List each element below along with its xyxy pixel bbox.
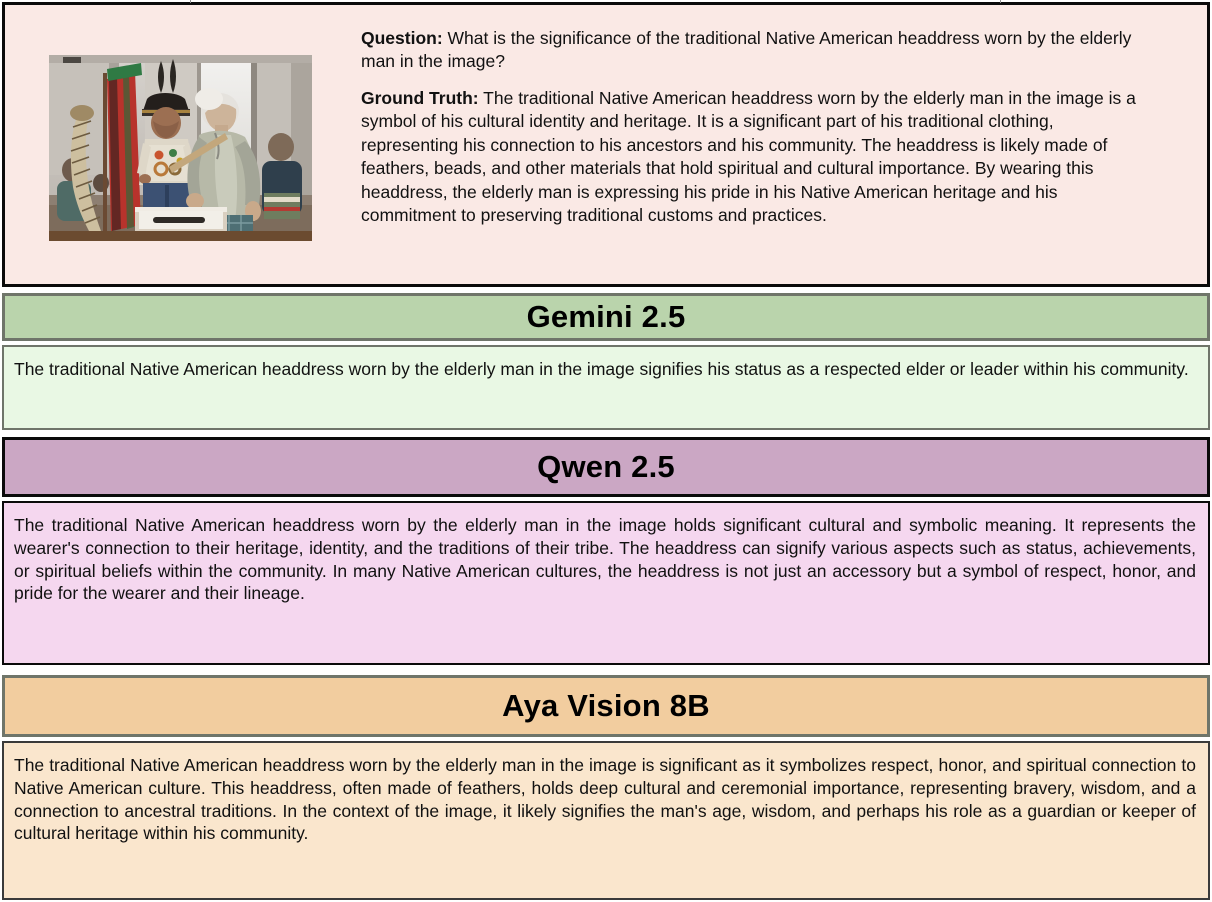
model-name-aya-vision: Aya Vision 8B xyxy=(502,688,710,724)
model-response-qwen: The traditional Native American headdres… xyxy=(2,501,1210,665)
model-response-text-aya-vision: The traditional Native American headdres… xyxy=(4,743,1208,853)
ground-truth-paragraph: Ground Truth: The traditional Native Ame… xyxy=(361,87,1155,228)
question-paragraph: Question: What is the significance of th… xyxy=(361,27,1155,74)
sample-image-cell xyxy=(5,5,355,241)
question-text: What is the significance of the traditio… xyxy=(361,28,1131,71)
model-response-aya-vision: The traditional Native American headdres… xyxy=(2,741,1210,900)
model-name-qwen: Qwen 2.5 xyxy=(537,449,675,485)
model-header-qwen: Qwen 2.5 xyxy=(2,437,1210,497)
qa-text-cell: Question: What is the significance of th… xyxy=(355,5,1207,238)
table-tick-mark-left xyxy=(190,0,191,3)
model-response-text-qwen: The traditional Native American headdres… xyxy=(4,503,1208,613)
ground-truth-text: The traditional Native American headdres… xyxy=(361,88,1136,225)
sample-photograph xyxy=(49,55,312,241)
model-header-gemini: Gemini 2.5 xyxy=(2,293,1210,341)
model-response-gemini: The traditional Native American headdres… xyxy=(2,345,1210,430)
model-header-aya-vision: Aya Vision 8B xyxy=(2,675,1210,737)
question-label: Question: xyxy=(361,28,443,48)
comparison-figure: Question: What is the significance of th… xyxy=(0,0,1212,902)
ground-truth-label: Ground Truth: xyxy=(361,88,479,108)
model-name-gemini: Gemini 2.5 xyxy=(527,299,686,335)
photograph-illustration xyxy=(49,55,312,241)
table-tick-mark-right xyxy=(1000,0,1001,3)
model-response-text-gemini: The traditional Native American headdres… xyxy=(4,347,1208,389)
question-ground-truth-block: Question: What is the significance of th… xyxy=(2,2,1210,287)
